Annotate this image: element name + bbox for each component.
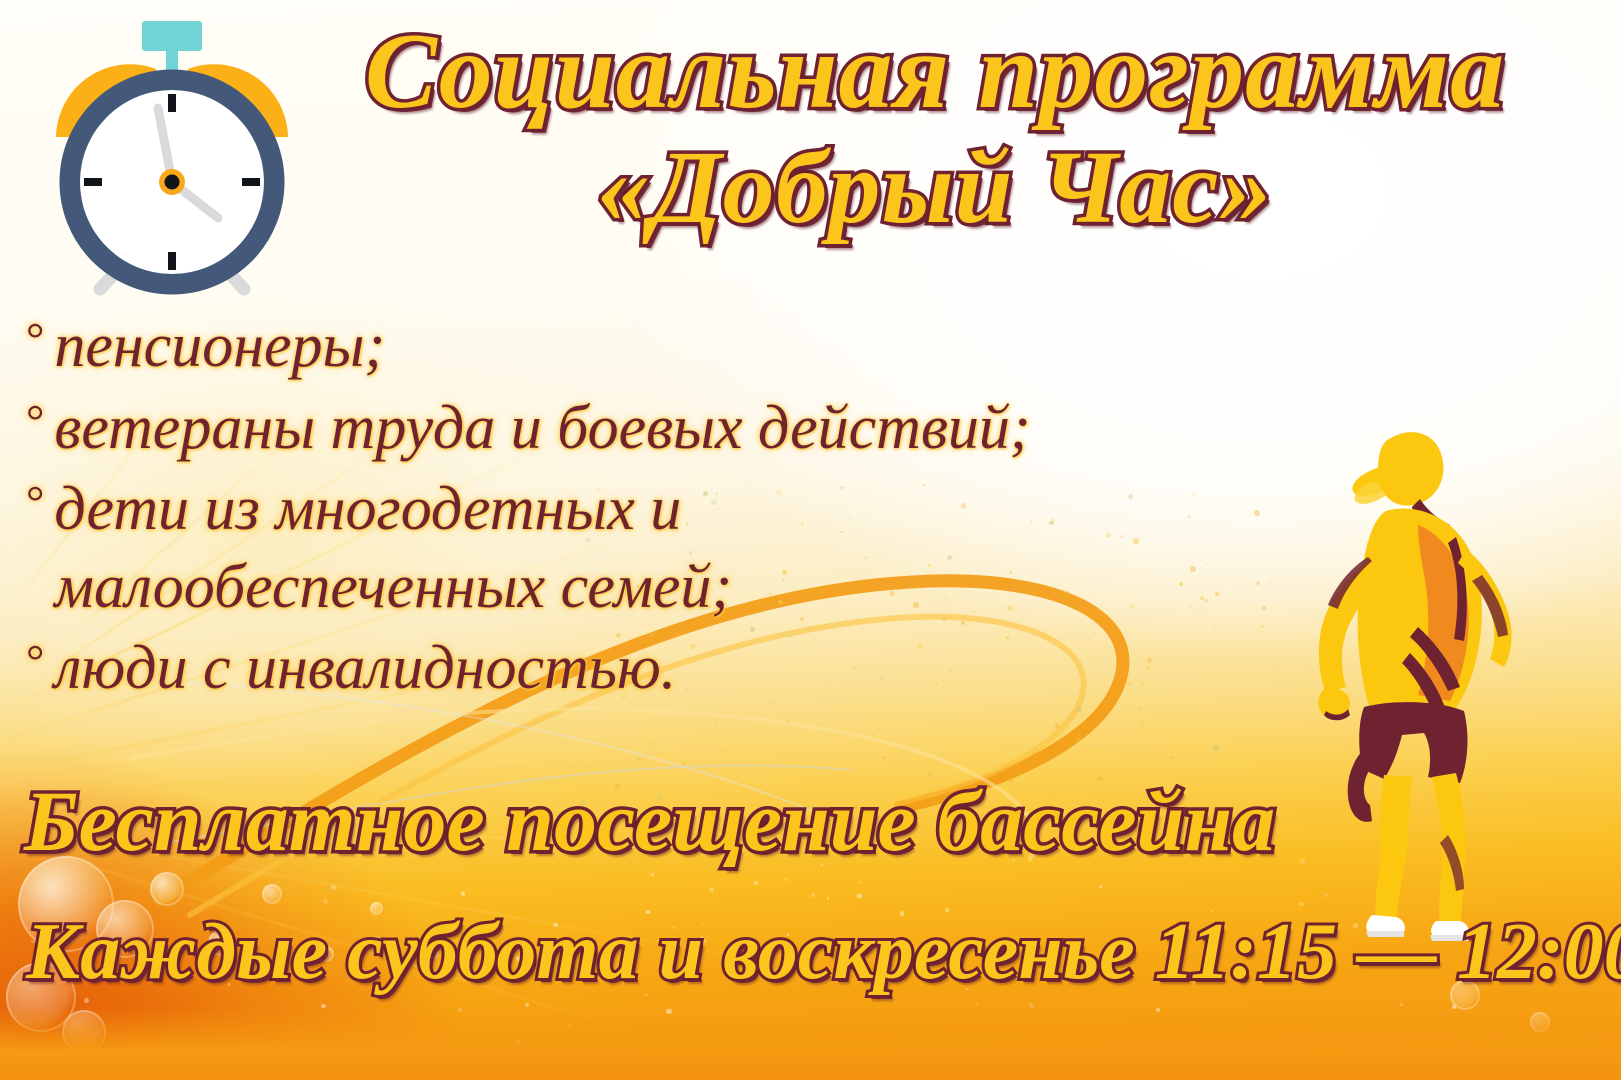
eligibility-item: °ветераны труда и боевых действий;: [26, 390, 1256, 468]
title-line-program: Социальная программа: [360, 18, 1510, 126]
eligibility-item: °пенсионеры;: [26, 308, 1256, 386]
alarm-clock-icon: [28, 14, 316, 300]
bullet-circle-icon: °: [26, 638, 44, 684]
background-bottom-band: [0, 1008, 1621, 1080]
bullet-circle-icon: °: [26, 316, 44, 362]
running-person-icon: [1268, 415, 1536, 945]
eligibility-item: °дети из многодетных и малообеспеченных …: [26, 471, 1256, 626]
bullet-circle-icon: °: [26, 479, 44, 525]
title-line-program-name: «Добрый Час»: [360, 136, 1510, 240]
offer-headline: Бесплатное посещение бассейна: [24, 778, 1424, 864]
schedule-line: Каждые суббота и воскресенье 11:15 — 12:…: [26, 912, 1476, 992]
eligibility-item-label: люди с инвалидностью.: [54, 630, 676, 708]
poster-root: Социальная программа «Добрый Час» °пенси…: [0, 0, 1621, 1080]
eligibility-item-label: ветераны труда и боевых действий;: [54, 390, 1030, 468]
eligibility-list: °пенсионеры;°ветераны труда и боевых дей…: [26, 308, 1256, 712]
eligibility-item-label: дети из многодетных и малообеспеченных с…: [54, 471, 732, 626]
bullet-circle-icon: °: [26, 398, 44, 444]
eligibility-item: °люди с инвалидностью.: [26, 630, 1256, 708]
poster-title: Социальная программа «Добрый Час»: [360, 18, 1510, 240]
eligibility-item-label: пенсионеры;: [54, 308, 385, 386]
